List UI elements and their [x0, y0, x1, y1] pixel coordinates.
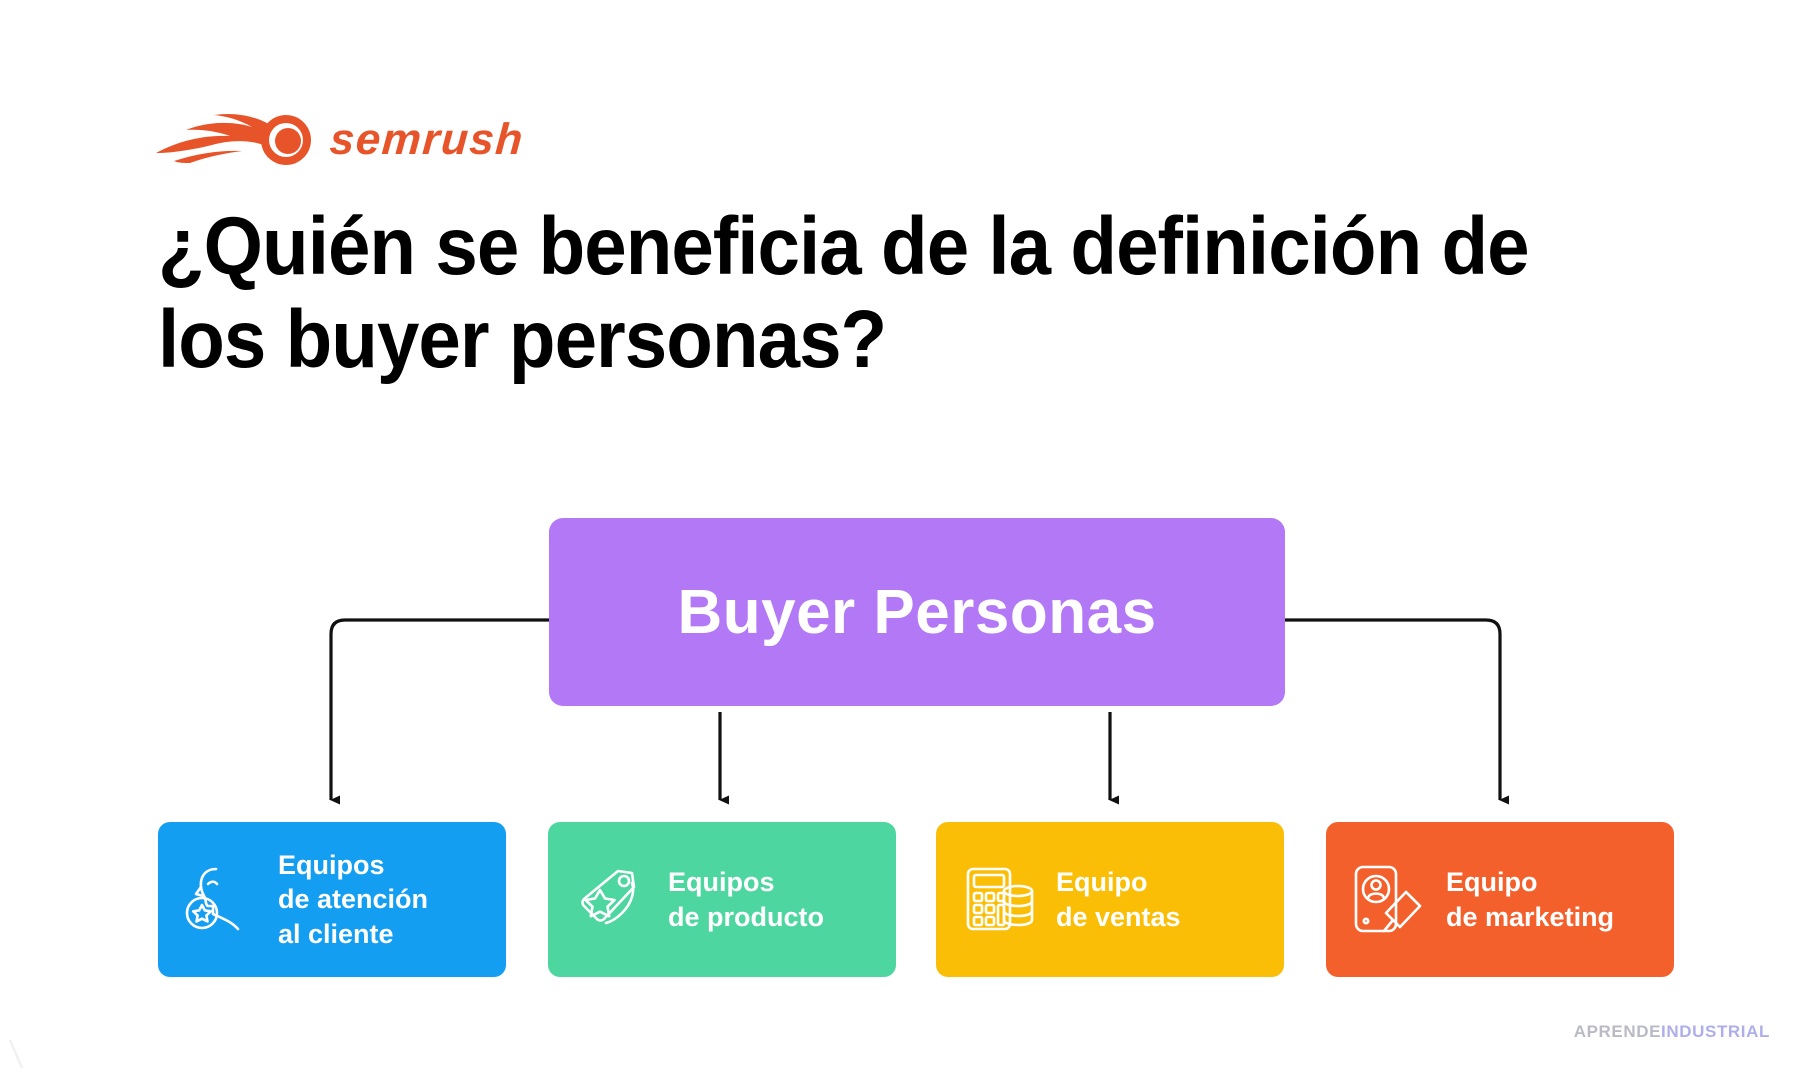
leaf-node-customer-support[interactable]: Equipos de atención al cliente: [158, 822, 506, 977]
connector-to-customer-support: [331, 620, 549, 800]
watermark-aprende: APRENDE: [1574, 1022, 1661, 1041]
corner-scuff-mark: [6, 1038, 32, 1072]
leaf-node-label: Equipos de producto: [668, 865, 824, 934]
leaf-node-label: Equipo de ventas: [1056, 865, 1181, 934]
leaf-node-label: Equipos de atención al cliente: [278, 848, 428, 952]
leaf-node-label: Equipo de marketing: [1446, 865, 1614, 934]
leaf-node-sales[interactable]: Equipo de ventas: [936, 822, 1284, 977]
person-profile-star-badge-icon: [182, 861, 260, 939]
leaf-node-marketing[interactable]: Equipo de marketing: [1326, 822, 1674, 977]
calculator-coins-icon: [960, 861, 1038, 939]
root-node-buyer-personas[interactable]: Buyer Personas: [549, 518, 1285, 706]
connector-to-marketing: [1285, 620, 1500, 800]
root-node-label: Buyer Personas: [677, 577, 1156, 648]
price-tag-star-icon: [572, 861, 650, 939]
watermark: APRENDEINDUSTRIAL: [1574, 1022, 1770, 1042]
watermark-industrial: INDUSTRIAL: [1661, 1022, 1770, 1041]
phone-megaphone-icon: [1350, 861, 1428, 939]
leaf-node-product[interactable]: Equipos de producto: [548, 822, 896, 977]
